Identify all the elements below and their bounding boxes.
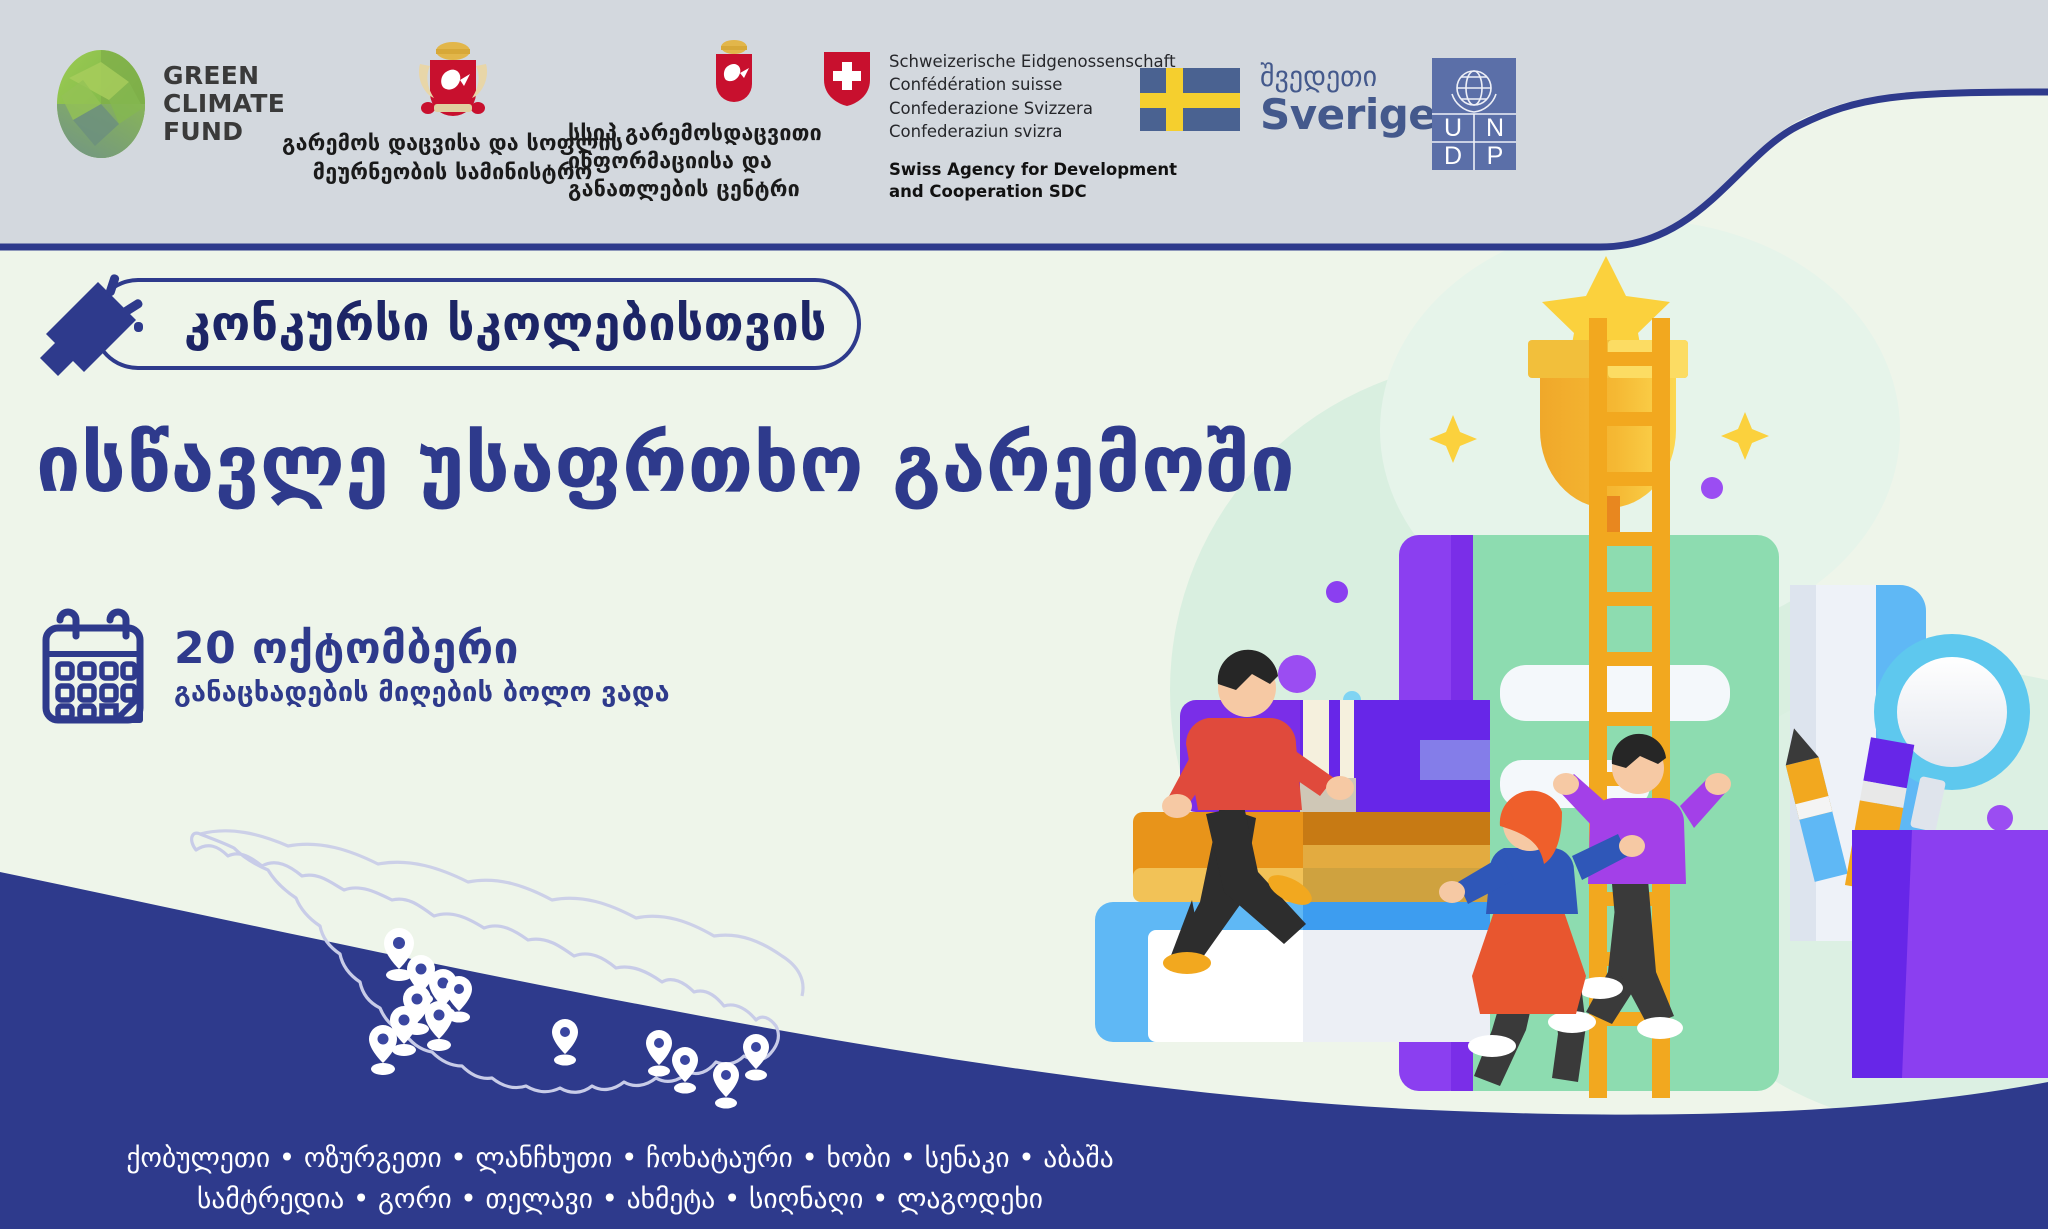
map-pin-icon (646, 1030, 672, 1077)
map-pin-icon (369, 1025, 397, 1075)
map-pin-icon (743, 1034, 769, 1081)
banner-canvas: GREEN CLIMATE FUND გარემოს დაცვისა და სო… (0, 0, 2048, 1229)
map-pin-icon (552, 1019, 578, 1066)
map-pin-group (369, 928, 769, 1109)
map-pin-icon (425, 1001, 453, 1051)
map-pin-icon (713, 1062, 739, 1109)
map-pin-icon (672, 1047, 698, 1094)
georgia-map (0, 0, 2048, 1229)
georgia-map-outline (192, 831, 803, 1092)
